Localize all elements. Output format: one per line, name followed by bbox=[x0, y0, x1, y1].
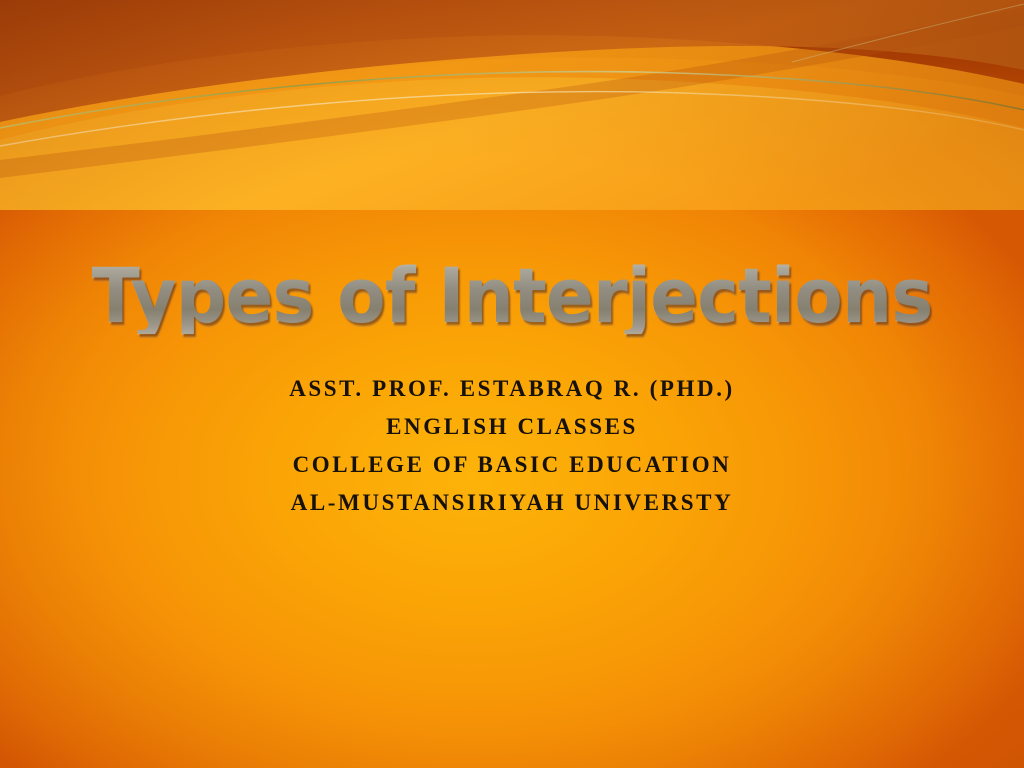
subtitle-line-course: ENGLISH CLASSES bbox=[0, 408, 1024, 446]
slide-subtitle-container: ASST. PROF. ESTABRAQ R. (PHD.) ENGLISH C… bbox=[0, 370, 1024, 522]
slide-title-container: Types of Interjections bbox=[0, 258, 1024, 334]
decorative-wave-ribbon bbox=[0, 0, 1024, 210]
subtitle-line-presenter: ASST. PROF. ESTABRAQ R. (PHD.) bbox=[0, 370, 1024, 408]
page-title: Types of Interjections bbox=[92, 258, 933, 334]
subtitle-line-university: AL-MUSTANSIRIYAH UNIVERSTY bbox=[0, 484, 1024, 522]
subtitle-line-college: COLLEGE OF BASIC EDUCATION bbox=[0, 446, 1024, 484]
presentation-slide: Types of Interjections ASST. PROF. ESTAB… bbox=[0, 0, 1024, 768]
